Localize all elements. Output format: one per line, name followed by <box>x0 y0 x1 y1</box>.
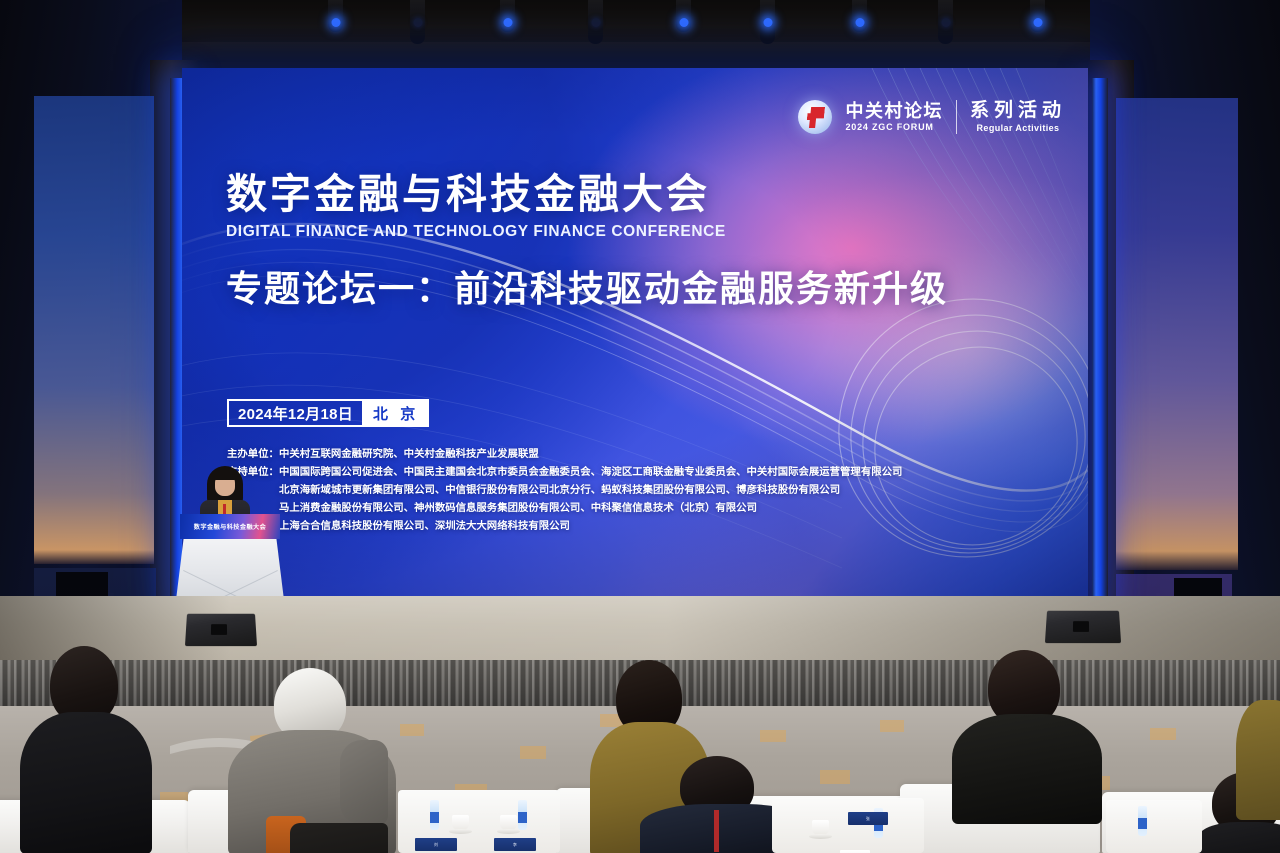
wall-panel-right-upper <box>1116 98 1238 570</box>
left-wall <box>0 0 182 700</box>
forum-session-title: 专题论坛一：前沿科技驱动金融服务新升级 <box>226 260 986 312</box>
ceiling-beam <box>150 42 1150 62</box>
stage-light-icon <box>676 0 691 32</box>
stage-monitor-speaker-right <box>1045 611 1121 643</box>
date-location-badge: 2024年12月18日 北 京 <box>227 399 429 427</box>
audience-lanyard <box>714 810 719 852</box>
wall-panel-left-upper <box>34 96 154 564</box>
speaker-fringe <box>214 471 236 480</box>
audience-arm <box>340 740 388 824</box>
podium-banner: 数字金融与科技金融大会 <box>180 514 280 539</box>
conference-title-en: DIGITAL FINANCE AND TECHNOLOGY FINANCE C… <box>226 223 986 241</box>
audience-torso <box>1236 700 1280 820</box>
coffee-cup <box>500 815 517 830</box>
audience-torso <box>20 712 152 853</box>
podium-body <box>176 539 284 600</box>
zgc-mark-glyph <box>806 107 825 128</box>
name-card-text: 刘 <box>434 842 438 848</box>
podium-banner-text: 数字金融与科技金融大会 <box>194 522 266 531</box>
podium: 数字金融与科技金融大会 <box>176 514 284 600</box>
activities-text: 系列活动 Regular Activities <box>970 101 1066 133</box>
side-table <box>772 798 924 853</box>
sponsor-line-organizers: 主办单位：中关村互联网金融研究院、中关村金融科技产业发展联盟 <box>227 446 927 464</box>
event-date: 2024年12月18日 <box>229 401 362 425</box>
audience-torso <box>1198 822 1280 853</box>
audience-member <box>1236 700 1280 820</box>
name-card-text: 李 <box>513 842 517 848</box>
stage-light-icon <box>938 0 953 44</box>
coffee-cup <box>452 815 469 830</box>
stage-light-icon <box>760 0 775 44</box>
title-block: 数字金融与科技金融大会 DIGITAL FINANCE AND TECHNOLO… <box>226 172 986 312</box>
zgc-logo-en: 2024 ZGC FORUM <box>845 123 943 132</box>
sponsor-list: 主办单位：中关村互联网金融研究院、中关村金融科技产业发展联盟 支持单位：中国国际… <box>227 446 927 535</box>
stage-light-icon <box>852 0 867 32</box>
sponsor-line-supporters: 支持单位：中国国际跨国公司促进会、中国民主建国会北京市委员会金融委员会、海淀区工… <box>227 464 927 482</box>
stage-light-icon <box>500 0 515 32</box>
audience-member <box>20 646 150 853</box>
right-wall <box>1090 0 1280 700</box>
water-bottle <box>430 800 439 830</box>
cup-saucer <box>449 829 472 834</box>
stage-light-icon <box>328 0 343 32</box>
side-table <box>1106 800 1202 853</box>
name-card: 刘 <box>415 838 457 851</box>
event-city: 北 京 <box>362 401 427 425</box>
stage-light-icon <box>588 0 603 44</box>
cup-saucer <box>809 834 832 839</box>
stage-light-icon <box>1030 0 1045 32</box>
cup-saucer <box>497 829 520 834</box>
water-bottle <box>1138 806 1147 836</box>
zgc-logo-cn: 中关村论坛 <box>845 102 943 120</box>
sponsor-line-5: 上海合合信息科技股份有限公司、深圳法大大网络科技有限公司 <box>227 518 927 536</box>
sponsor-line-3: 北京海新域城市更新集团有限公司、中信银行股份有限公司北京分行、蚂蚁科技集团股份有… <box>227 482 927 500</box>
stage-monitor-speaker-left <box>185 614 257 646</box>
led-screen: 中关村论坛 2024 ZGC FORUM 系列活动 Regular Activi… <box>182 68 1088 596</box>
activities-en: Regular Activities <box>977 124 1060 133</box>
audience-lap <box>290 823 388 853</box>
name-card-text: 张 <box>866 816 870 822</box>
sponsor-line-4: 马上消费金融股份有限公司、神州数码信息服务集团股份有限公司、中科聚信信息技术（北… <box>227 500 927 518</box>
zgc-logo-text: 中关村论坛 2024 ZGC FORUM <box>845 102 943 132</box>
coffee-cup <box>812 820 829 835</box>
audience-member <box>952 650 1100 810</box>
water-bottle <box>518 800 527 830</box>
zgc-forum-logo: 中关村论坛 2024 ZGC FORUM 系列活动 Regular Activi… <box>798 100 1066 134</box>
name-card: 张 <box>848 812 888 825</box>
audience-torso <box>952 714 1102 824</box>
zgc-emblem-icon <box>798 100 832 134</box>
stage-light-icon <box>410 0 425 44</box>
logo-divider <box>956 100 957 134</box>
conference-title-cn: 数字金融与科技金融大会 <box>226 172 986 218</box>
activities-cn: 系列活动 <box>970 101 1066 120</box>
audience-member <box>228 668 408 853</box>
name-card: 李 <box>494 838 536 851</box>
conference-hall-scene: 中关村论坛 2024 ZGC FORUM 系列活动 Regular Activi… <box>0 0 1280 853</box>
